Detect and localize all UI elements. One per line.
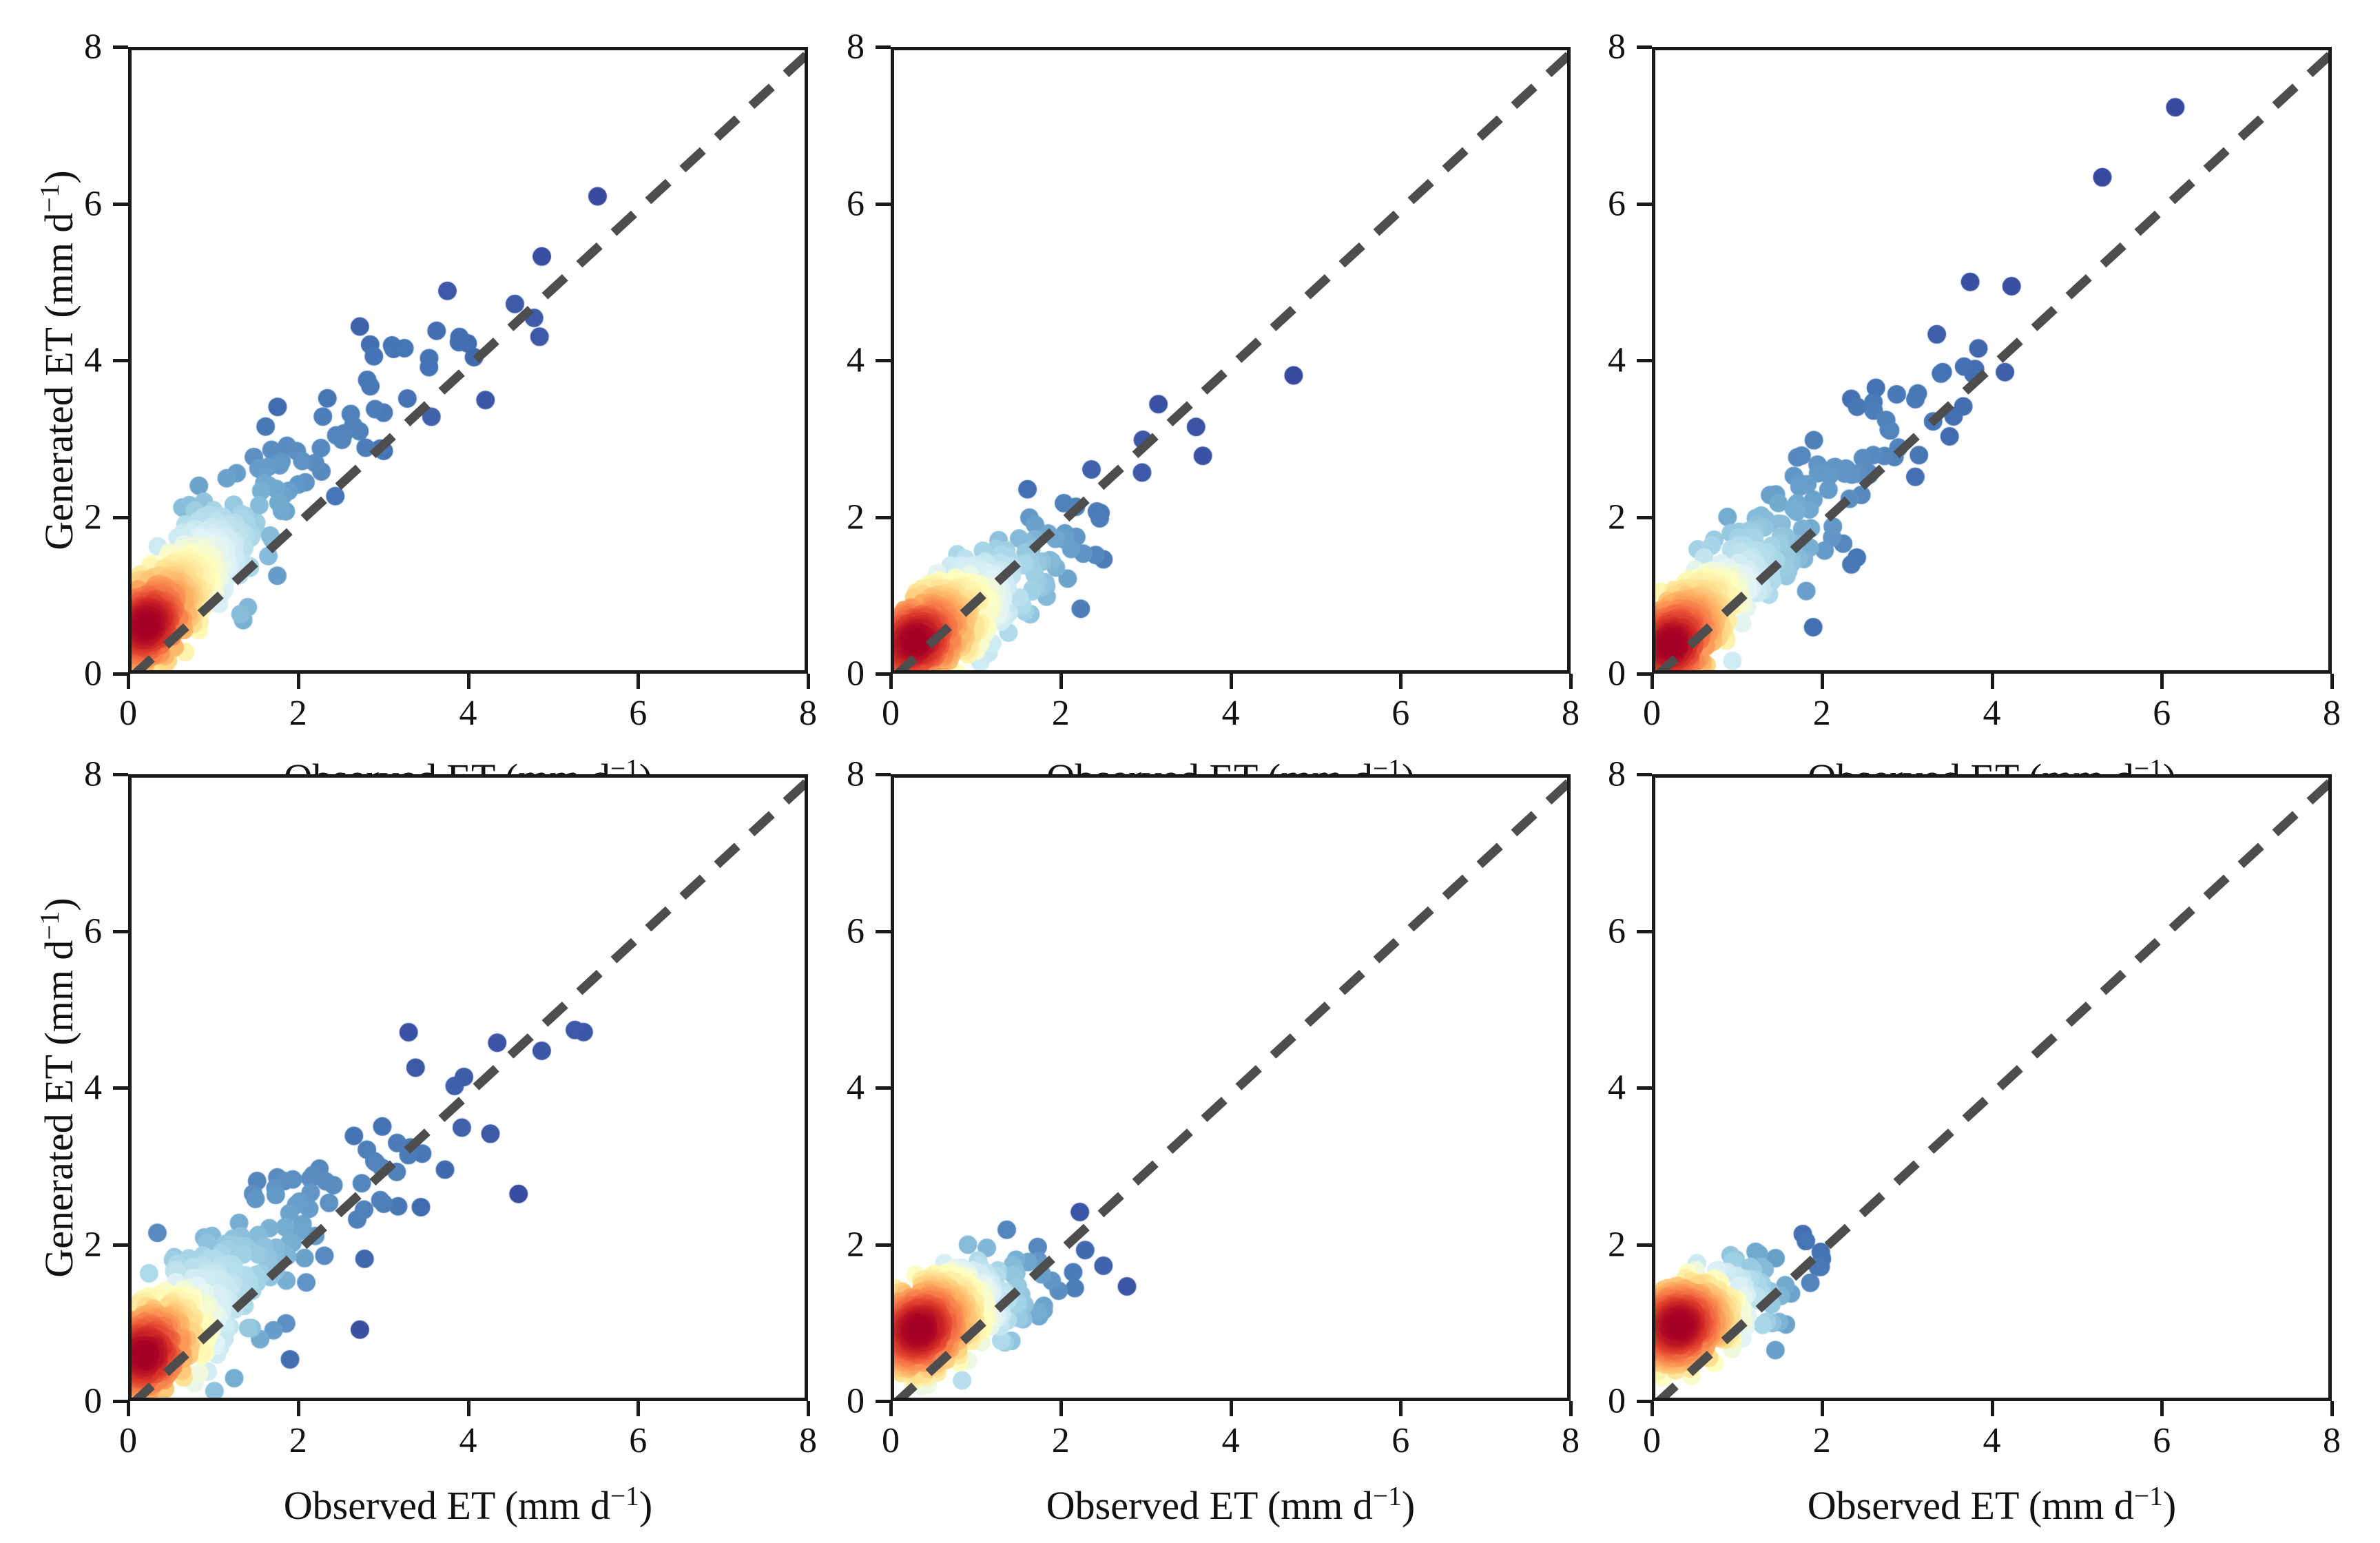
y-tick-label: 8 xyxy=(59,754,102,795)
x-tick-label: 6 xyxy=(1391,693,1409,734)
x-tick-label: 8 xyxy=(1562,1420,1580,1461)
x-tick-label: 2 xyxy=(1813,693,1831,734)
density-scatter-points xyxy=(1655,778,2332,1401)
plot-frame xyxy=(128,774,808,1401)
y-tick xyxy=(113,1400,128,1403)
y-tick xyxy=(876,45,891,49)
density-scatter-points xyxy=(1655,50,2332,674)
x-tick xyxy=(297,1401,300,1416)
x-tick xyxy=(2160,674,2164,689)
y-tick-label: 2 xyxy=(1583,497,1626,537)
density-scatter-points xyxy=(132,50,808,674)
y-tick xyxy=(1637,672,1652,676)
x-tick-label: 0 xyxy=(882,693,900,734)
density-scatter-points xyxy=(894,50,1571,674)
x-axis-label: Observed ET (mm d−1) xyxy=(1046,1482,1415,1529)
x-tick-label: 2 xyxy=(1052,693,1070,734)
y-tick xyxy=(876,930,891,933)
y-tick-label: 4 xyxy=(822,340,865,381)
x-tick-label: 6 xyxy=(629,693,647,734)
x-tick xyxy=(127,1401,130,1416)
y-tick-label: 0 xyxy=(822,654,865,694)
x-tick-label: 6 xyxy=(629,1420,647,1461)
y-tick xyxy=(876,359,891,362)
x-tick xyxy=(1230,674,1233,689)
y-tick-label: 4 xyxy=(822,1068,865,1108)
x-tick-label: 4 xyxy=(459,693,477,734)
y-tick-label: 8 xyxy=(59,27,102,68)
y-tick-label: 8 xyxy=(822,27,865,68)
y-tick xyxy=(876,1086,891,1090)
plot-frame xyxy=(1652,774,2332,1401)
x-tick-label: 2 xyxy=(289,693,307,734)
x-axis-label: Observed ET (mm d−1) xyxy=(284,1482,652,1529)
y-tick xyxy=(113,516,128,519)
y-tick-label: 0 xyxy=(59,654,102,694)
y-tick xyxy=(113,773,128,776)
x-tick xyxy=(807,674,810,689)
x-tick xyxy=(1991,674,1994,689)
y-tick xyxy=(1637,1243,1652,1247)
scatter-figure: LinzeR = 0.84bias = 0.51 mm/dayRMSE = 1.… xyxy=(0,0,2380,1543)
y-tick-label: 4 xyxy=(1583,340,1626,381)
panel-linze xyxy=(128,47,808,674)
y-tick xyxy=(876,203,891,206)
y-tick-label: 0 xyxy=(59,1381,102,1422)
y-tick xyxy=(113,1086,128,1090)
y-tick xyxy=(113,359,128,362)
x-tick-label: 4 xyxy=(459,1420,477,1461)
plot-frame xyxy=(1652,47,2332,674)
y-tick-label: 8 xyxy=(1583,754,1626,795)
x-tick xyxy=(1059,674,1063,689)
x-tick xyxy=(1399,674,1403,689)
y-tick xyxy=(1637,45,1652,49)
plot-frame xyxy=(128,47,808,674)
y-tick-label: 2 xyxy=(822,497,865,537)
y-tick xyxy=(1637,516,1652,519)
x-tick xyxy=(1569,1401,1573,1416)
x-tick xyxy=(889,1401,893,1416)
y-tick-label: 6 xyxy=(822,911,865,951)
panel-hunhelin xyxy=(891,774,1571,1401)
x-tick-label: 4 xyxy=(1983,693,2001,734)
x-tick xyxy=(1821,674,1824,689)
y-tick xyxy=(113,45,128,49)
x-axis-label: Observed ET (mm d−1) xyxy=(1808,1482,2176,1529)
x-tick-label: 8 xyxy=(799,693,817,734)
x-tick-label: 0 xyxy=(1643,693,1661,734)
x-tick xyxy=(297,674,300,689)
y-tick xyxy=(1637,1400,1652,1403)
x-tick-label: 2 xyxy=(1813,1420,1831,1461)
x-tick xyxy=(1399,1401,1403,1416)
y-tick xyxy=(876,1400,891,1403)
x-tick xyxy=(127,674,130,689)
y-axis-label: Generated ET (mm d−1) xyxy=(36,898,82,1277)
x-tick-label: 4 xyxy=(1222,693,1240,734)
panel-huyanglin xyxy=(1652,774,2332,1401)
panel-arou xyxy=(891,47,1571,674)
x-tick-label: 0 xyxy=(1643,1420,1661,1461)
y-tick xyxy=(876,773,891,776)
y-tick-label: 8 xyxy=(1583,27,1626,68)
y-tick xyxy=(113,203,128,206)
y-tick-label: 0 xyxy=(1583,654,1626,694)
density-scatter-points xyxy=(132,778,808,1401)
density-scatter-points xyxy=(894,778,1571,1401)
panel-dashalong xyxy=(128,774,808,1401)
x-tick xyxy=(1651,674,1654,689)
x-tick xyxy=(1059,1401,1063,1416)
x-tick-label: 2 xyxy=(1052,1420,1070,1461)
x-tick-label: 4 xyxy=(1222,1420,1240,1461)
x-tick xyxy=(467,1401,470,1416)
y-tick-label: 6 xyxy=(1583,911,1626,951)
x-tick-label: 8 xyxy=(1562,693,1580,734)
plot-frame xyxy=(891,774,1571,1401)
y-tick xyxy=(876,672,891,676)
y-tick xyxy=(113,930,128,933)
x-tick-label: 8 xyxy=(2323,1420,2341,1461)
x-tick-label: 8 xyxy=(799,1420,817,1461)
y-tick-label: 8 xyxy=(822,754,865,795)
y-tick xyxy=(876,1243,891,1247)
plot-frame xyxy=(891,47,1571,674)
x-tick-label: 0 xyxy=(119,1420,137,1461)
y-tick xyxy=(113,672,128,676)
y-tick-label: 2 xyxy=(822,1224,865,1265)
x-tick-label: 0 xyxy=(882,1420,900,1461)
y-tick-label: 6 xyxy=(1583,183,1626,224)
x-tick xyxy=(889,674,893,689)
y-tick xyxy=(1637,1086,1652,1090)
x-tick-label: 0 xyxy=(119,693,137,734)
x-tick-label: 6 xyxy=(2153,1420,2171,1461)
y-tick-label: 0 xyxy=(822,1381,865,1422)
x-tick xyxy=(2330,1401,2334,1416)
x-tick xyxy=(2160,1401,2164,1416)
x-tick-label: 4 xyxy=(1983,1420,2001,1461)
x-tick xyxy=(637,674,640,689)
y-tick xyxy=(1637,930,1652,933)
x-tick-label: 8 xyxy=(2323,693,2341,734)
x-tick xyxy=(1651,1401,1654,1416)
y-tick xyxy=(1637,359,1652,362)
y-tick-label: 4 xyxy=(1583,1068,1626,1108)
x-tick xyxy=(637,1401,640,1416)
y-tick xyxy=(1637,773,1652,776)
x-tick xyxy=(1230,1401,1233,1416)
y-tick xyxy=(876,516,891,519)
y-tick xyxy=(1637,203,1652,206)
y-tick-label: 6 xyxy=(822,183,865,224)
x-tick xyxy=(807,1401,810,1416)
x-tick xyxy=(467,674,470,689)
x-tick-label: 2 xyxy=(289,1420,307,1461)
x-tick xyxy=(1991,1401,1994,1416)
x-tick xyxy=(1569,674,1573,689)
y-tick-label: 2 xyxy=(1583,1224,1626,1265)
y-tick xyxy=(113,1243,128,1247)
x-tick xyxy=(1821,1401,1824,1416)
x-tick-label: 6 xyxy=(1391,1420,1409,1461)
x-tick-label: 6 xyxy=(2153,693,2171,734)
y-axis-label: Generated ET (mm d−1) xyxy=(36,170,82,550)
panel-daman xyxy=(1652,47,2332,674)
x-tick xyxy=(2330,674,2334,689)
y-tick-label: 0 xyxy=(1583,1381,1626,1422)
